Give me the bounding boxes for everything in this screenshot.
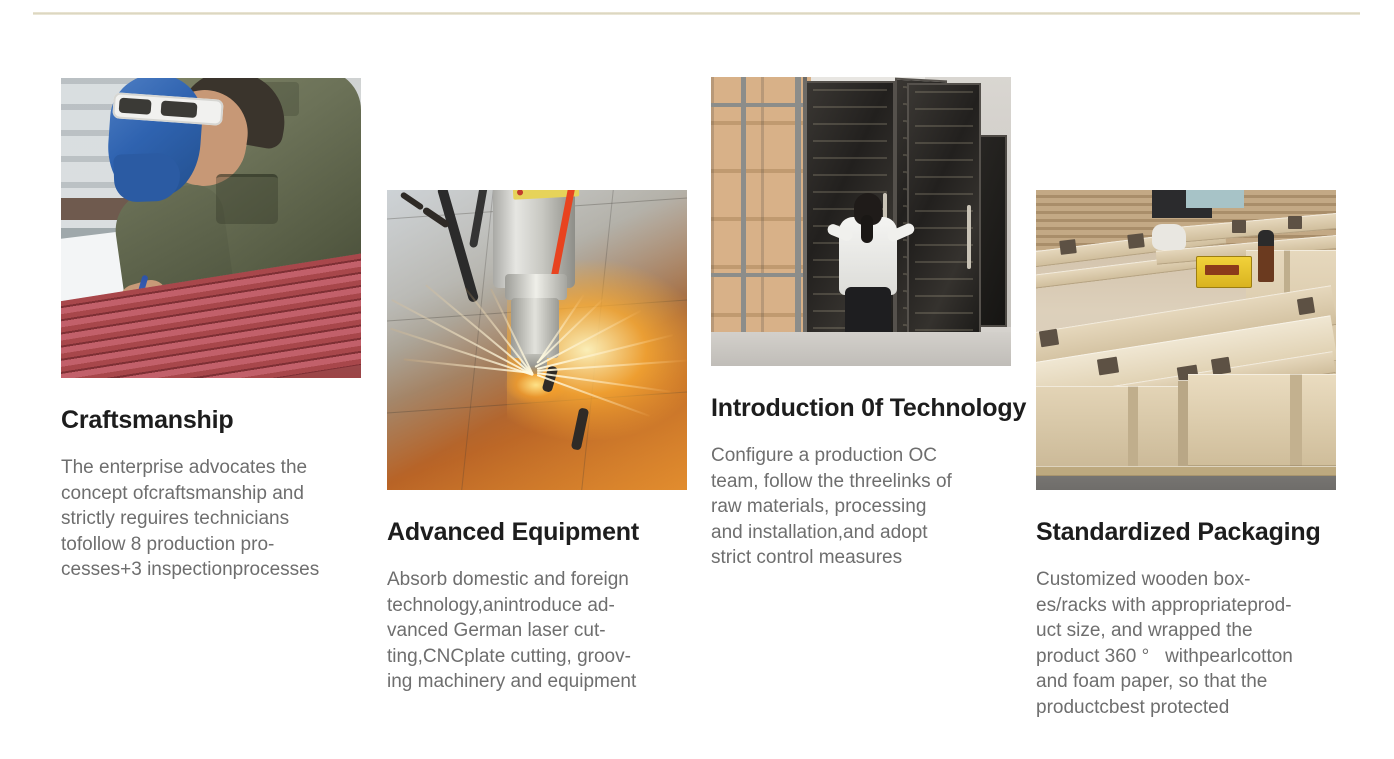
photo-introduction-of-technology [711,77,1011,366]
body-line: strictly reguires technicians [61,506,361,532]
feature-title: Introduction 0f Technology [711,394,1011,423]
body-line: strict control measures [711,545,1011,571]
body-line: The enterprise advocates the [61,455,361,481]
body-line: tofollow 8 production pro- [61,532,361,558]
body-line: raw materials, processing [711,494,1011,520]
photo-craftsmanship [61,78,361,378]
body-line: team, follow the threelinks of [711,469,1011,495]
body-line: and installation,and adopt [711,520,1011,546]
body-line: product 360 ° withpearlcotton [1036,644,1336,670]
feature-card-craftsmanship: Craftsmanship The enterprise advocates t… [61,78,361,583]
feature-body: The enterprise advocates the concept ofc… [61,455,361,583]
feature-title: Craftsmanship [61,406,361,435]
photo-standardized-packaging [1036,190,1336,490]
body-line: ing machinery and equipment [387,669,687,695]
feature-card-introduction-of-technology: Introduction 0f Technology Configure a p… [711,77,1011,571]
body-line: vanced German laser cut- [387,618,687,644]
body-line: cesses+3 inspectionprocesses [61,557,361,583]
body-line: and foam paper, so that the [1036,669,1336,695]
features-board: Craftsmanship The enterprise advocates t… [0,0,1394,759]
feature-title: Standardized Packaging [1036,518,1336,547]
body-line: uct size, and wrapped the [1036,618,1336,644]
body-line: technology,anintroduce ad- [387,593,687,619]
body-line: ting,CNCplate cutting, groov- [387,644,687,670]
feature-body: Absorb domestic and foreign technology,a… [387,567,687,695]
body-line: Customized wooden box- [1036,567,1336,593]
photo-advanced-equipment [387,190,687,490]
body-line: productcbest protected [1036,695,1336,721]
feature-body: Configure a production OC team, follow t… [711,443,1011,571]
feature-card-advanced-equipment: Advanced Equipment Absorb domestic and f… [387,190,687,695]
feature-title: Advanced Equipment [387,518,687,547]
body-line: Configure a production OC [711,443,1011,469]
body-line: Absorb domestic and foreign [387,567,687,593]
feature-body: Customized wooden box- es/racks with app… [1036,567,1336,720]
body-line: es/racks with appropriateprod- [1036,593,1336,619]
body-line: concept ofcraftsmanship and [61,481,361,507]
feature-card-standardized-packaging: Standardized Packaging Customized wooden… [1036,190,1336,720]
